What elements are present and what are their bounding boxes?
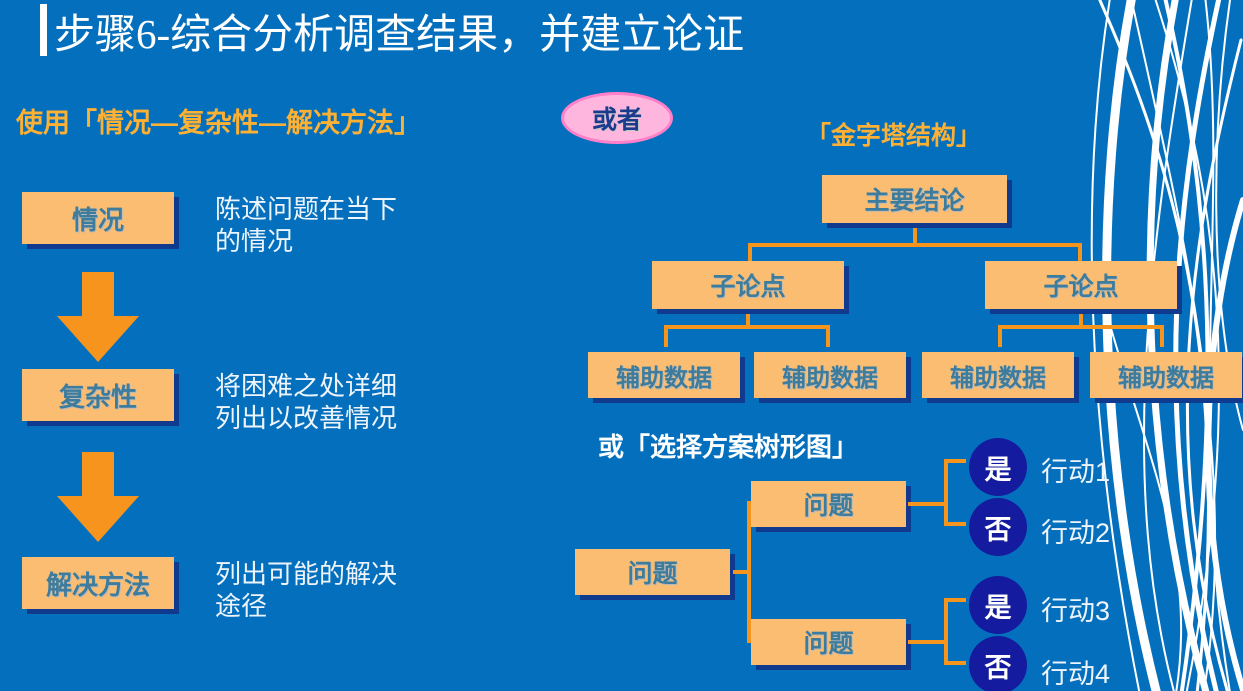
down-arrow-icon [55,452,141,544]
step-box-resolution[interactable]: 解决方法 [22,557,174,609]
connector-vertical [944,598,948,665]
pyramid-leaf-box[interactable]: 辅助数据 [922,352,1074,398]
connector-horizontal [908,502,948,506]
step-box-label: 情况 [72,200,124,237]
tree-node-box[interactable]: 问题 [751,619,906,665]
pyramid-leaf-label: 辅助数据 [782,358,878,393]
pyramid-branch-box[interactable]: 子论点 [652,261,844,309]
tree-root-box[interactable]: 问题 [575,549,730,595]
connector-vertical [944,459,948,526]
tree-outcome-answer: 否 [985,646,1012,685]
tree-node-box[interactable]: 问题 [751,481,906,527]
pyramid-leaf-label: 辅助数据 [1118,358,1214,393]
step-box-label: 复杂性 [59,377,137,414]
connector-horizontal [908,640,948,644]
connector-vertical [748,243,752,263]
tree-root-label: 问题 [627,554,677,590]
connector-horizontal [748,243,1082,247]
tree-outcome-answer: 是 [985,586,1012,625]
step-box-complication[interactable]: 复杂性 [22,369,174,421]
pyramid-branch-box[interactable]: 子论点 [985,261,1177,309]
decision-tree-heading: 或「选择方案树形图」 [598,427,858,464]
page-title: 步骤6-综合分析调查结果，并建立论证 [40,2,1140,60]
or-bubble: 或者 [561,92,673,144]
tree-node-label: 问题 [803,624,853,660]
tree-outcome-circle-yes[interactable]: 是 [969,576,1027,634]
pyramid-leaf-label: 辅助数据 [950,358,1046,393]
pyramid-leaf-box[interactable]: 辅助数据 [1090,352,1242,398]
connector-horizontal [944,598,966,602]
connector-vertical [1160,325,1164,347]
step-description-resolution: 列出可能的解决 途径 [215,558,485,622]
tree-outcome-circle-no[interactable]: 否 [969,636,1027,691]
or-bubble-label: 或者 [592,100,642,136]
pyramid-leaf-box[interactable]: 辅助数据 [754,352,906,398]
tree-outcome-action: 行动3 [1041,589,1110,628]
tree-outcome-circle-yes[interactable]: 是 [969,438,1027,496]
slide-canvas: 步骤6-综合分析调查结果，并建立论证 使用「情况—复杂性—解决方法」 情况 陈述… [0,0,1243,691]
tree-outcome-answer: 是 [985,448,1012,487]
tree-outcome-answer: 否 [985,508,1012,547]
connector-horizontal [944,661,966,665]
pyramid-root-label: 主要结论 [864,181,964,217]
tree-outcome-circle-no[interactable]: 否 [969,498,1027,556]
connector-vertical [998,325,1002,347]
step-description-complication: 将困难之处详细 列出以改善情况 [215,370,495,434]
tree-outcome-action: 行动4 [1041,652,1110,691]
down-arrow-icon [55,272,141,364]
tree-outcome-action: 行动2 [1041,511,1110,550]
left-panel-heading: 使用「情况—复杂性—解决方法」 [16,101,421,140]
tree-outcome-action: 行动1 [1041,450,1110,489]
pyramid-branch-label: 子论点 [710,267,785,303]
connector-horizontal [664,325,830,329]
connector-horizontal [944,459,966,463]
step-description-situation: 陈述问题在当下 的情况 [215,193,475,257]
pyramid-root-box[interactable]: 主要结论 [822,175,1007,223]
connector-vertical [826,325,830,347]
pyramid-branch-label: 子论点 [1043,267,1118,303]
page-title-text: 步骤6-综合分析调查结果，并建立论证 [54,0,744,60]
tree-node-label: 问题 [803,486,853,522]
pyramid-leaf-label: 辅助数据 [616,358,712,393]
connector-vertical [664,325,668,347]
connector-horizontal [944,522,966,526]
connector-horizontal [998,325,1164,329]
step-box-situation[interactable]: 情况 [22,192,174,244]
title-accent-bar [40,4,47,56]
pyramid-heading: 「金字塔结构」 [806,116,981,152]
connector-vertical [1078,243,1082,263]
step-box-label: 解决方法 [46,565,150,602]
pyramid-leaf-box[interactable]: 辅助数据 [588,352,740,398]
